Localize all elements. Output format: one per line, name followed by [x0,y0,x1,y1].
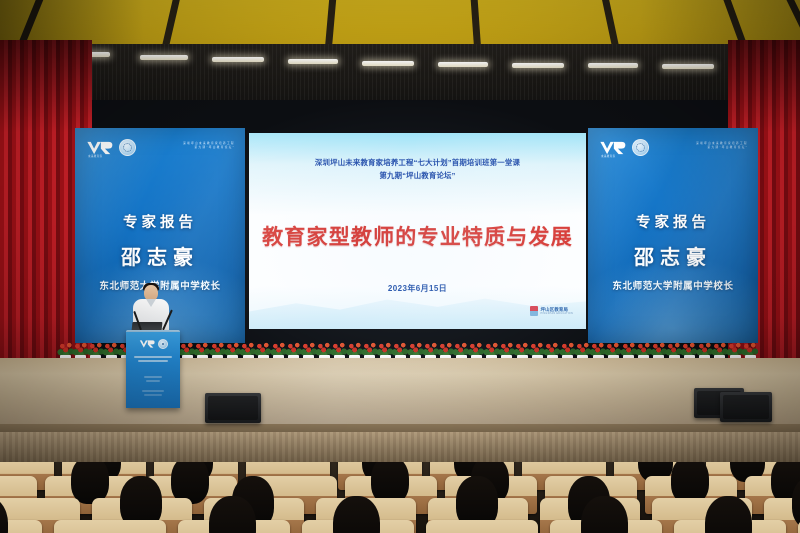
stage-floor-reflection [0,358,800,430]
audience-seat [426,520,538,533]
podium-top-surface [126,330,180,332]
right-screen-branding: 未来教育家 [599,139,649,156]
school-emblem-icon [119,139,136,156]
strip-light [662,64,714,69]
strip-light [212,57,264,62]
header-line-2: 第九期“坪山教育论坛” [249,170,586,183]
strip-light [362,61,414,66]
upper-back-wall [0,44,800,106]
strip-light [140,55,188,60]
micro-line: 第九期“坪山教育论坛” [183,146,235,150]
strip-light [288,59,338,64]
v-logo-subtext: 未来教育家 [601,154,615,158]
led-screen-right: 未来教育家 深圳坪山未来教育家培养工程 第九期“坪山教育论坛” 专家报告 邵志豪… [588,128,758,343]
podium-branding [139,339,168,349]
school-emblem-icon [632,139,649,156]
v-logo-subtext: 未来教育家 [88,154,102,158]
strip-light [438,62,488,67]
stage-monitor-speaker [720,392,772,422]
education-bureau-logo-icon [530,306,538,316]
left-screen-micro-text: 深圳坪山未来教育家培养工程 第九期“坪山教育论坛” [183,142,235,150]
strip-light [512,63,564,68]
right-screen-label: 专家报告 [588,211,758,232]
v-logo-icon [139,339,155,349]
right-screen-micro-text: 深圳坪山未来教育家培养工程 第九期“坪山教育论坛” [696,142,748,150]
v-logo-icon: 未来教育家 [599,140,626,156]
header-line-1: 深圳坪山未来教育家培养工程“七大计划”首期培训班第一堂课 [249,157,586,170]
podium [126,330,180,408]
stage-monitor-speaker [205,393,261,423]
center-screen-title: 教育家型教师的专业特质与发展 [249,221,586,251]
left-screen-branding: 未来教育家 [86,139,136,156]
v-logo-icon: 未来教育家 [86,140,113,156]
left-screen-label: 专家报告 [75,211,245,232]
audience-seat [54,520,166,533]
audience-area [0,462,800,533]
logo-secondary-text: PINGSHAN EDUCATION [541,312,573,315]
center-screen-header: 深圳坪山未来教育家培养工程“七大计划”首期培训班第一堂课 第九期“坪山教育论坛” [249,157,586,183]
school-emblem-icon [158,339,168,349]
micro-line: 第九期“坪山教育论坛” [696,146,748,150]
strip-light [588,63,638,68]
center-screen-date: 2023年6月15日 [249,283,586,294]
auditorium-photo: 未来教育家 深圳坪山未来教育家培养工程 第九期“坪山教育论坛” 专家报告 邵志豪… [0,0,800,533]
led-screen-center: 深圳坪山未来教育家培养工程“七大计划”首期培训班第一堂课 第九期“坪山教育论坛”… [249,133,586,329]
ceiling-panels [0,0,800,48]
center-screen-logo: 坪山区教育局 PINGSHAN EDUCATION [530,306,573,316]
